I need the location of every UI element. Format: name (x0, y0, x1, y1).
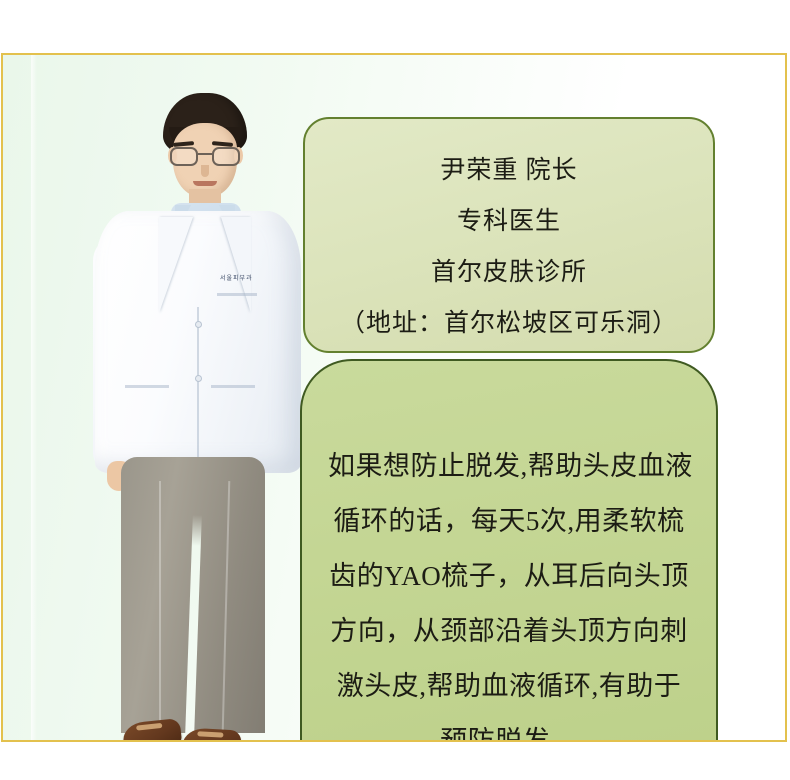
doctor-credentials-card: 尹荣重 院长 专科医生 首尔皮肤诊所 （地址：首尔松坡区可乐洞） (303, 117, 715, 353)
coat-center-seam (197, 307, 199, 473)
mouth-shape (193, 181, 217, 186)
credentials-line-name: 尹荣重 院长 (323, 145, 695, 196)
coat-pocket-left (125, 385, 169, 388)
glasses-bridge (198, 153, 212, 155)
advice-line-4: 方向，从颈部沿着头顶方向刺 (328, 604, 690, 659)
left-lens (170, 147, 198, 166)
coat-button-upper (195, 321, 202, 328)
coat-button-lower (195, 375, 202, 382)
coat-pocket-right (211, 385, 255, 388)
coat-lapel-left (159, 217, 193, 313)
right-lens (212, 147, 240, 166)
credentials-line-specialty: 专科医生 (323, 196, 695, 247)
page-root: 서울피부과 尹荣重 院长 专科医生 首尔皮肤诊所 （地址：首尔松坡区可乐洞） 如… (0, 0, 790, 780)
background-light-seam (31, 55, 37, 740)
doctor-portrait-image: 서울피부과 (63, 85, 323, 742)
doctor-advice-card: 如果想防止脱发,帮助头皮血液 循环的话，每天5次,用柔软梳 齿的YAO梳子，从耳… (300, 359, 718, 742)
coat-embroidery-text: 서울피부과 (220, 273, 264, 282)
coat-chest-pocket (217, 293, 257, 296)
coat-lapel-right (221, 217, 251, 313)
advice-line-2: 循环的话，每天5次,用柔软梳 (328, 494, 690, 549)
advice-line-5: 激头皮,帮助血液循环,有助于 (328, 659, 690, 714)
advice-line-6: 预防脱发。 (328, 714, 690, 742)
advice-line-3: 齿的YAO梳子，从耳后向头顶 (328, 549, 690, 604)
eyeglasses-icon (166, 147, 244, 167)
credentials-line-address: （地址：首尔松坡区可乐洞） (323, 298, 695, 349)
nose-shape (201, 165, 209, 177)
trouser-crease-left (159, 481, 161, 731)
advice-line-1: 如果想防止脱发,帮助头皮血液 (328, 439, 690, 494)
gold-bordered-panel: 서울피부과 尹荣重 院长 专科医生 首尔皮肤诊所 （地址：首尔松坡区可乐洞） 如… (1, 53, 787, 742)
credentials-line-clinic: 首尔皮肤诊所 (323, 247, 695, 298)
